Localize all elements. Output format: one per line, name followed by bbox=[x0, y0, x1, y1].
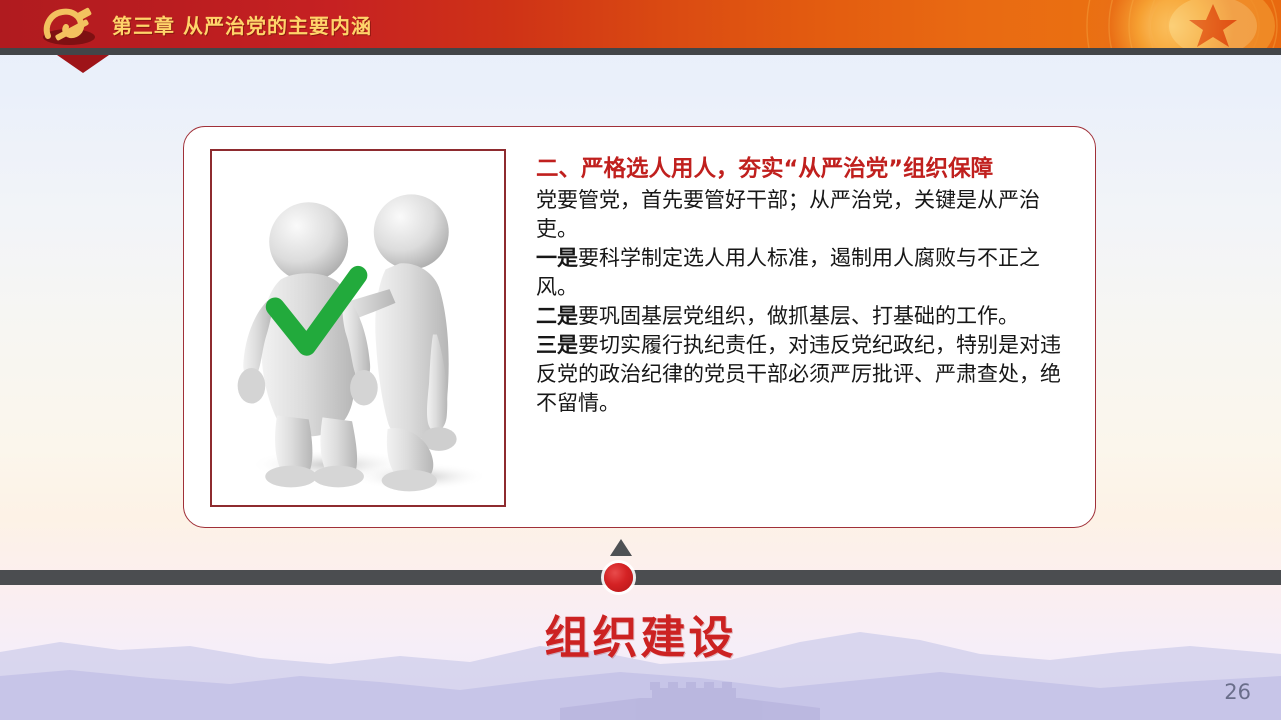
paragraph-text-3: 要切实履行执纪责任，对违反党纪政纪，特别是对违反党的政治纪律的党员干部必须严厉批… bbox=[536, 333, 1061, 415]
photo-frame bbox=[210, 149, 506, 507]
page-number: 26 bbox=[1224, 680, 1251, 704]
paragraph-text-0: 党要管党，首先要管好干部；从严治党，关键是从严治吏。 bbox=[536, 188, 1040, 241]
header-underbar bbox=[0, 48, 1281, 55]
ribbon-tail-icon bbox=[57, 55, 109, 73]
paragraph-lead-1: 一是 bbox=[536, 246, 578, 270]
body-paragraph-1: 一是要科学制定选人用人标准，遏制用人腐败与不正之风。 bbox=[536, 244, 1068, 302]
party-emblem-hammer-sickle-icon bbox=[38, 4, 100, 46]
section-heading: 二、严格选人用人，夯实“从严治党”组织保障 bbox=[536, 154, 1068, 184]
illustration-two-figures-checkmark bbox=[212, 151, 504, 504]
red-star-burst-icon bbox=[941, 0, 1281, 48]
text-column: 二、严格选人用人，夯实“从严治党”组织保障 党要管党，首先要管好干部；从严治党，… bbox=[536, 154, 1068, 418]
body-paragraph-3: 三是要切实履行执纪责任，对违反党纪政纪，特别是对违反党的政治纪律的党员干部必须严… bbox=[536, 331, 1068, 418]
section-title: 组织建设 bbox=[0, 601, 1281, 666]
page-title: 第三章 从严治党的主要内涵 bbox=[112, 10, 372, 39]
slide: 第三章 从严治党的主要内涵 bbox=[0, 0, 1281, 720]
footer-divider-bar bbox=[0, 570, 1281, 585]
up-triangle-marker-icon bbox=[610, 539, 632, 556]
body-paragraph-2: 二是要巩固基层党组织，做抓基层、打基础的工作。 bbox=[536, 302, 1068, 331]
paragraph-text-1: 要科学制定选人用人标准，遏制用人腐败与不正之风。 bbox=[536, 246, 1040, 299]
paragraph-lead-3: 三是 bbox=[536, 333, 578, 357]
paragraph-lead-2: 二是 bbox=[536, 304, 578, 328]
body-text: 党要管党，首先要管好干部；从严治党，关键是从严治吏。 一是要科学制定选人用人标准… bbox=[536, 186, 1068, 418]
paragraph-text-2: 要巩固基层党组织，做抓基层、打基础的工作。 bbox=[578, 304, 1019, 328]
content-card: 二、严格选人用人，夯实“从严治党”组织保障 党要管党，首先要管好干部；从严治党，… bbox=[183, 126, 1096, 528]
body-paragraph-0: 党要管党，首先要管好干部；从严治党，关键是从严治吏。 bbox=[536, 186, 1068, 244]
red-dot-marker-icon bbox=[604, 563, 633, 592]
header-bar: 第三章 从严治党的主要内涵 bbox=[0, 0, 1281, 48]
